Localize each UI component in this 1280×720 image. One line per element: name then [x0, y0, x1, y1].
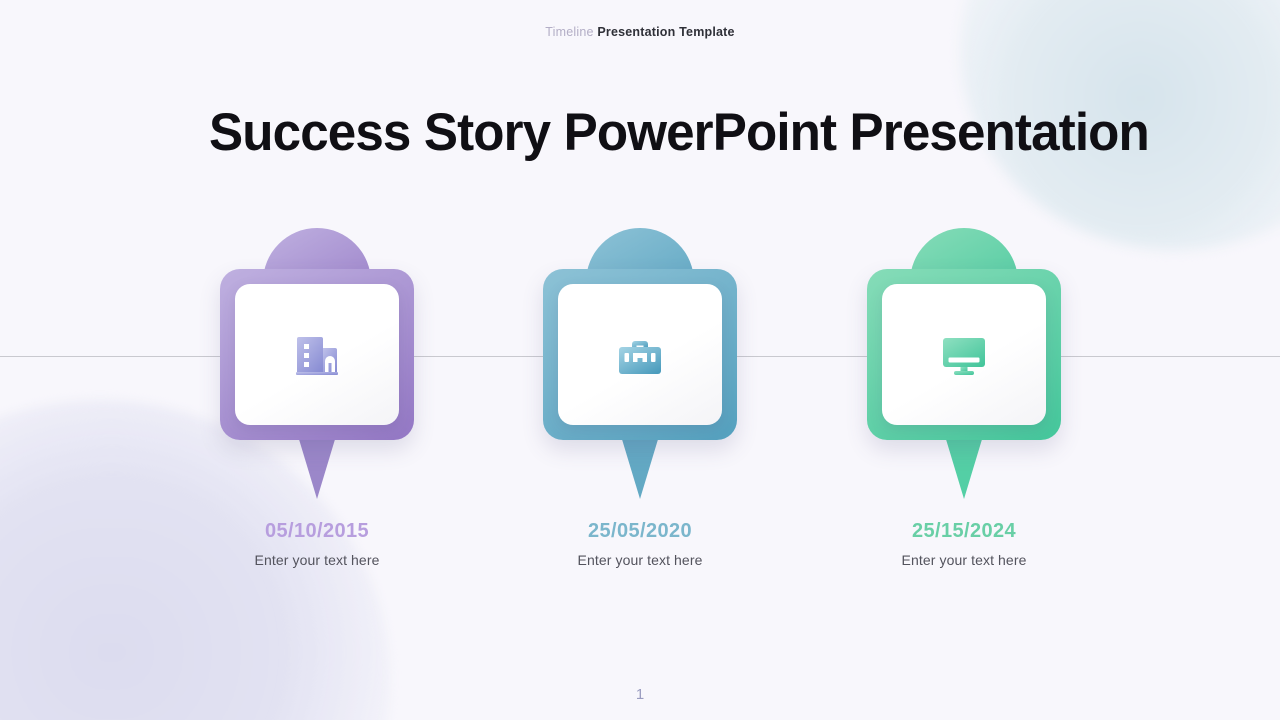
eyebrow-title: Presentation Template — [597, 25, 734, 39]
marker-card — [543, 269, 737, 440]
timeline-text-2: Enter your text here — [503, 552, 777, 568]
marker-icon-tile — [558, 284, 722, 425]
marker-pointer — [621, 436, 659, 499]
slide: Timeline Presentation Template Success S… — [0, 0, 1280, 720]
timeline-caption-1: 05/10/2015 Enter your text here — [180, 520, 454, 568]
marker-icon-tile — [235, 284, 399, 425]
page-title: Success Story PowerPoint Presentation — [209, 102, 1149, 163]
timeline-date-1: 05/10/2015 — [180, 520, 454, 543]
header-eyebrow: Timeline Presentation Template — [0, 25, 1280, 39]
timeline-caption-2: 25/05/2020 Enter your text here — [503, 520, 777, 568]
timeline-text-1: Enter your text here — [180, 552, 454, 568]
timeline-date-2: 25/05/2020 — [503, 520, 777, 543]
marker-card — [220, 269, 414, 440]
timeline-date-3: 25/15/2024 — [827, 520, 1101, 543]
office-building-icon — [291, 329, 343, 381]
marker-pointer — [945, 436, 983, 499]
timeline-text-3: Enter your text here — [827, 552, 1101, 568]
marker-pointer — [298, 436, 336, 499]
page-number: 1 — [0, 686, 1280, 703]
briefcase-icon — [614, 329, 666, 381]
desktop-monitor-icon — [938, 329, 990, 381]
timeline-markers: 05/10/2015 Enter your text here — [0, 228, 1280, 588]
marker-icon-tile — [882, 284, 1046, 425]
eyebrow-category: Timeline — [545, 25, 593, 39]
marker-card — [867, 269, 1061, 440]
timeline-caption-3: 25/15/2024 Enter your text here — [827, 520, 1101, 568]
